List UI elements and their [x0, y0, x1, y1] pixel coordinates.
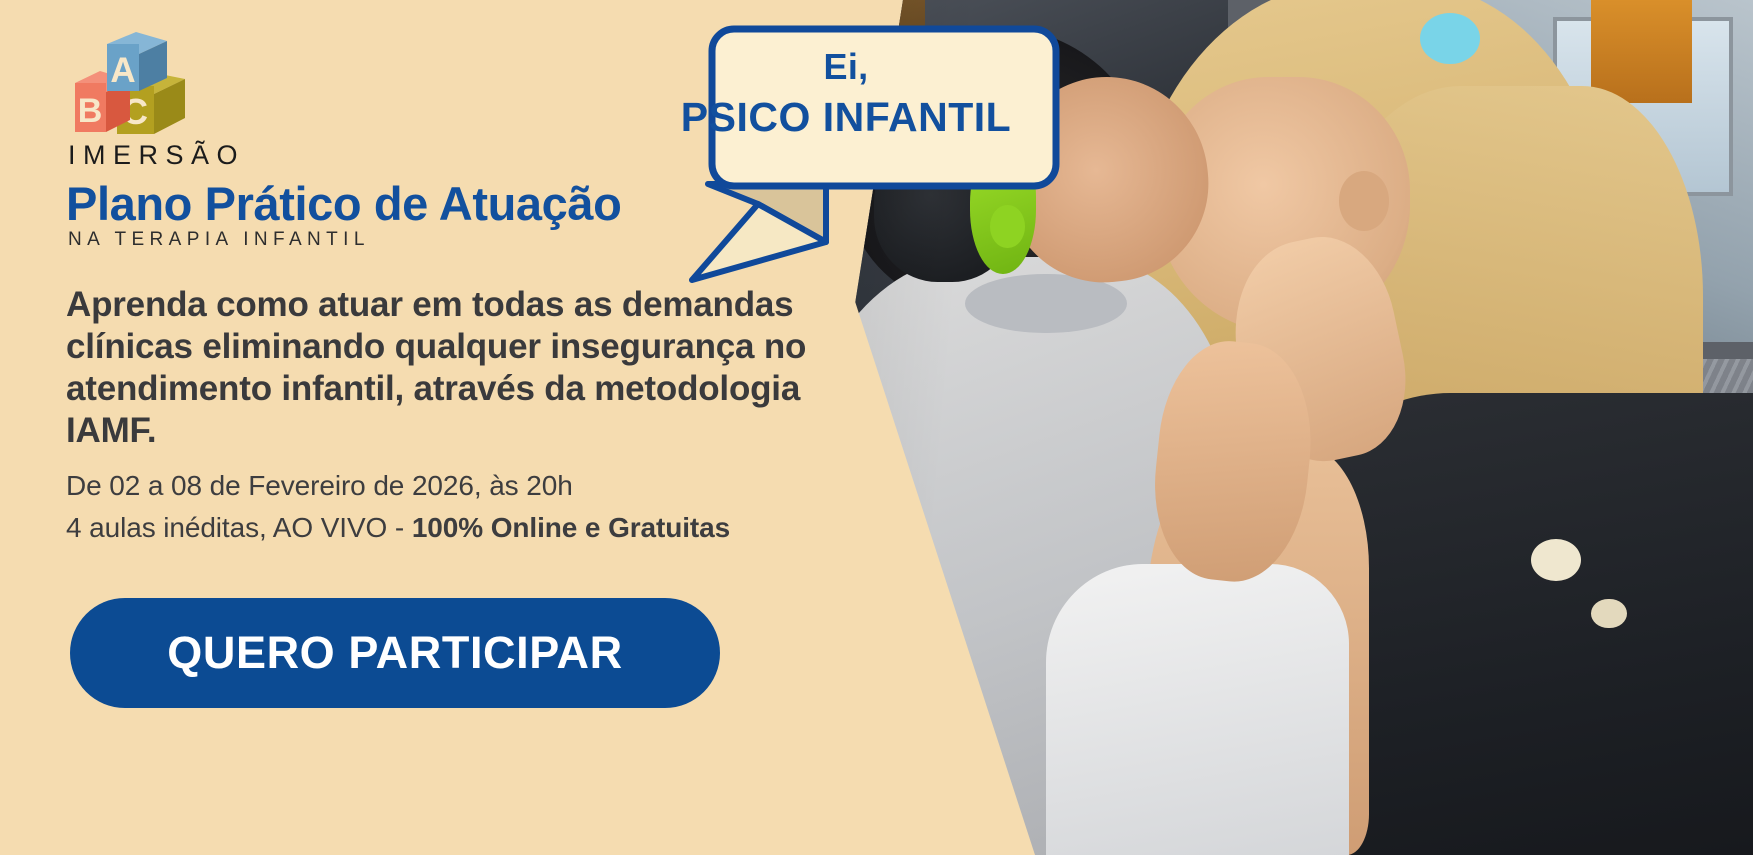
subtitle-na-terapia-infantil: NA TERAPIA INFANTIL — [68, 229, 370, 251]
abc-blocks-logo: C B A — [68, 30, 193, 138]
block-a-icon: A — [107, 32, 167, 91]
promo-banner: C B A IMERSÃO Plano Prático de Atuação N… — [0, 0, 1753, 855]
bubble-line-1: Ei, — [824, 46, 869, 87]
svg-text:A: A — [110, 51, 135, 90]
quero-participar-button[interactable]: QUERO PARTICIPAR — [70, 598, 720, 708]
event-format-info: 4 aulas inéditas, AO VIVO - 100% Online … — [66, 512, 730, 544]
event-format-regular: 4 aulas inéditas, AO VIVO - — [66, 512, 412, 543]
page-title: Plano Prático de Atuação — [66, 176, 621, 231]
bubble-line-2: PSICO INFANTIL — [636, 91, 1056, 144]
event-format-bold: 100% Online e Gratuitas — [412, 512, 730, 543]
kicker-imersao: IMERSÃO — [68, 140, 245, 171]
speech-bubble-text: Ei, PSICO INFANTIL — [636, 44, 1056, 144]
svg-text:B: B — [78, 92, 103, 130]
headline-text: Aprenda como atuar em todas as demandas … — [66, 284, 826, 452]
event-date-time: De 02 a 08 de Fevereiro de 2026, às 20h — [66, 470, 573, 502]
